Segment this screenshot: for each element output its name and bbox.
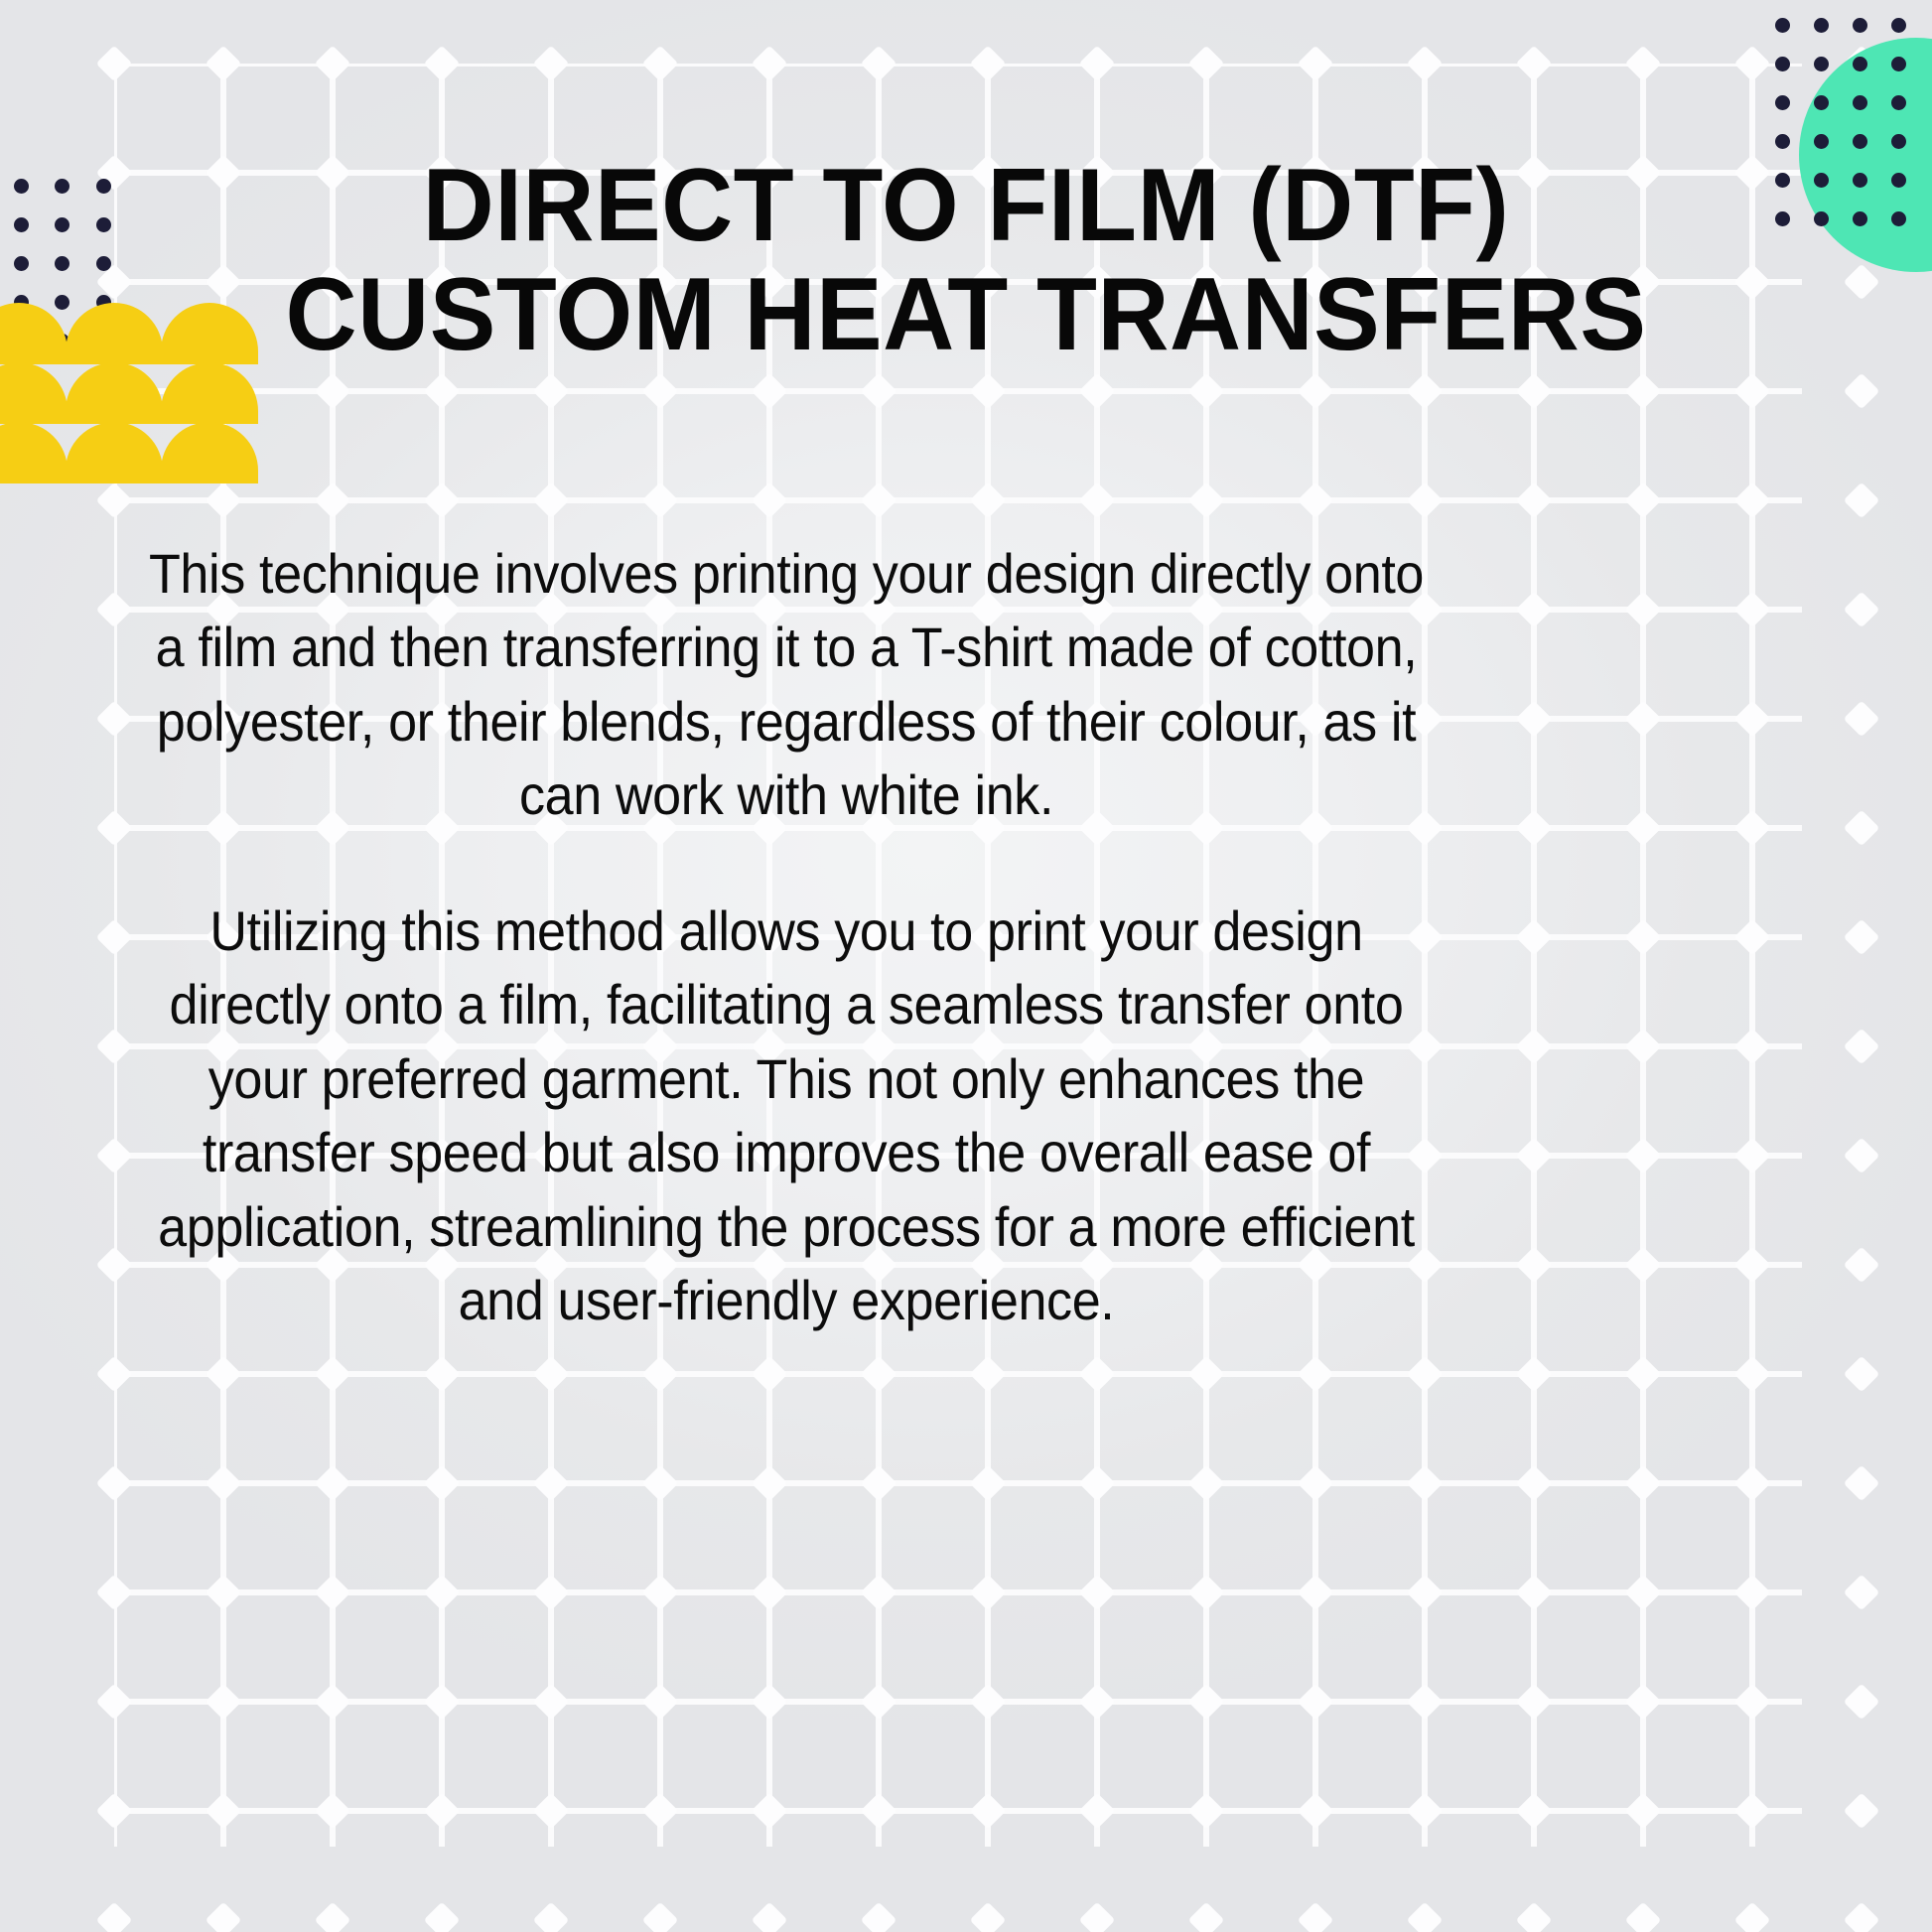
body-copy: This technique involves printing your de… [95,482,1477,1394]
paragraph-2: Utilizing this method allows you to prin… [144,895,1430,1338]
page-title: DIRECT TO FILM (DTF) CUSTOM HEAT TRANSFE… [201,151,1731,369]
poster-canvas: DIRECT TO FILM (DTF) CUSTOM HEAT TRANSFE… [0,0,1932,1932]
content-area: DIRECT TO FILM (DTF) CUSTOM HEAT TRANSFE… [0,0,1932,1932]
title-line-1: DIRECT TO FILM (DTF) [201,151,1731,260]
paragraph-1: This technique involves printing your de… [144,537,1430,833]
title-line-2: CUSTOM HEAT TRANSFERS [201,260,1731,369]
